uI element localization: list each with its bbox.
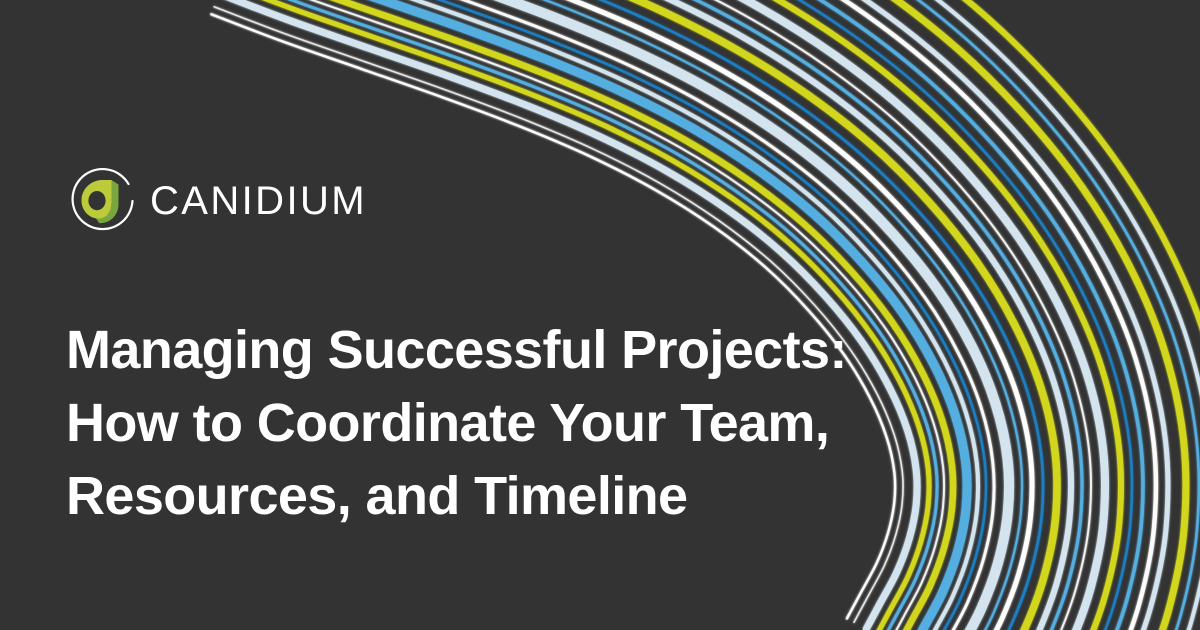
brand-lockup[interactable]: CANIDIUM [66, 161, 367, 241]
headline-line-2: How to Coordinate Your Team, [66, 387, 966, 460]
social-card: CANIDIUM Managing Successful Projects: H… [0, 0, 1200, 630]
headline-line-1: Managing Successful Projects: [66, 314, 966, 387]
canidium-droplet-icon [66, 164, 140, 238]
page-title: Managing Successful Projects: How to Coo… [66, 314, 966, 533]
droplet-inner-hole [88, 191, 105, 210]
brand-wordmark: CANIDIUM [150, 181, 367, 221]
headline-line-3: Resources, and Timeline [66, 460, 966, 533]
